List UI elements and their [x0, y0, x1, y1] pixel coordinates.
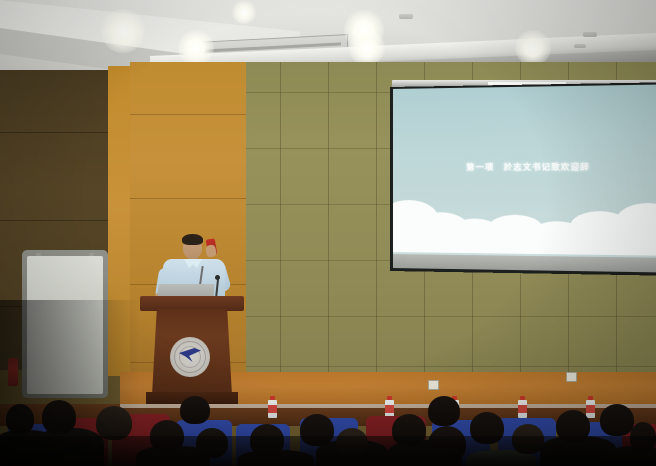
whiteboard-clip: [36, 253, 41, 256]
audience-head: [600, 404, 634, 436]
ceiling-downlight: [101, 9, 145, 53]
water-bottle: [268, 396, 277, 418]
ceiling-grille: [574, 44, 586, 48]
water-bottle: [518, 396, 527, 418]
whiteboard-clip: [89, 253, 94, 256]
screen-surface: 第一项 於志文书记致欢迎辞: [393, 84, 656, 272]
screen-bottom-band: [393, 254, 656, 273]
flipchart-whiteboard: [22, 250, 108, 398]
fire-extinguisher: [8, 358, 18, 386]
microphone-head: [215, 275, 220, 280]
water-bottle: [586, 396, 595, 418]
foreground-shadow: [0, 436, 656, 466]
slide-cloud-graphic: [393, 210, 656, 256]
ceiling-downlight: [178, 30, 214, 66]
whiteboard-surface: [27, 256, 103, 394]
screen-frame: 第一项 於志文书记致欢迎辞: [390, 82, 656, 276]
podium-top: [140, 296, 244, 311]
slide-title-text: 第一项 於志文书记致欢迎辞: [393, 160, 656, 173]
wall-outlet: [428, 380, 439, 390]
ceiling-grille: [399, 14, 413, 19]
ceiling-downlight: [349, 30, 385, 66]
water-bottle: [385, 396, 394, 418]
projection-screen: 第一项 於志文书记致欢迎辞: [390, 80, 656, 276]
audience-head: [42, 400, 76, 434]
audience-head: [180, 396, 210, 424]
university-emblem: [170, 337, 210, 377]
lecture-hall-photo: 第一项 於志文书记致欢迎辞: [0, 0, 656, 466]
audience-head: [428, 396, 460, 426]
wall-outlet: [566, 372, 577, 382]
audience-head: [6, 404, 34, 434]
ceiling-downlight: [515, 30, 551, 66]
audience-head: [96, 406, 132, 440]
speaker-hair: [182, 234, 203, 245]
ceiling-grille: [583, 32, 597, 37]
ceiling-downlight: [232, 0, 256, 24]
